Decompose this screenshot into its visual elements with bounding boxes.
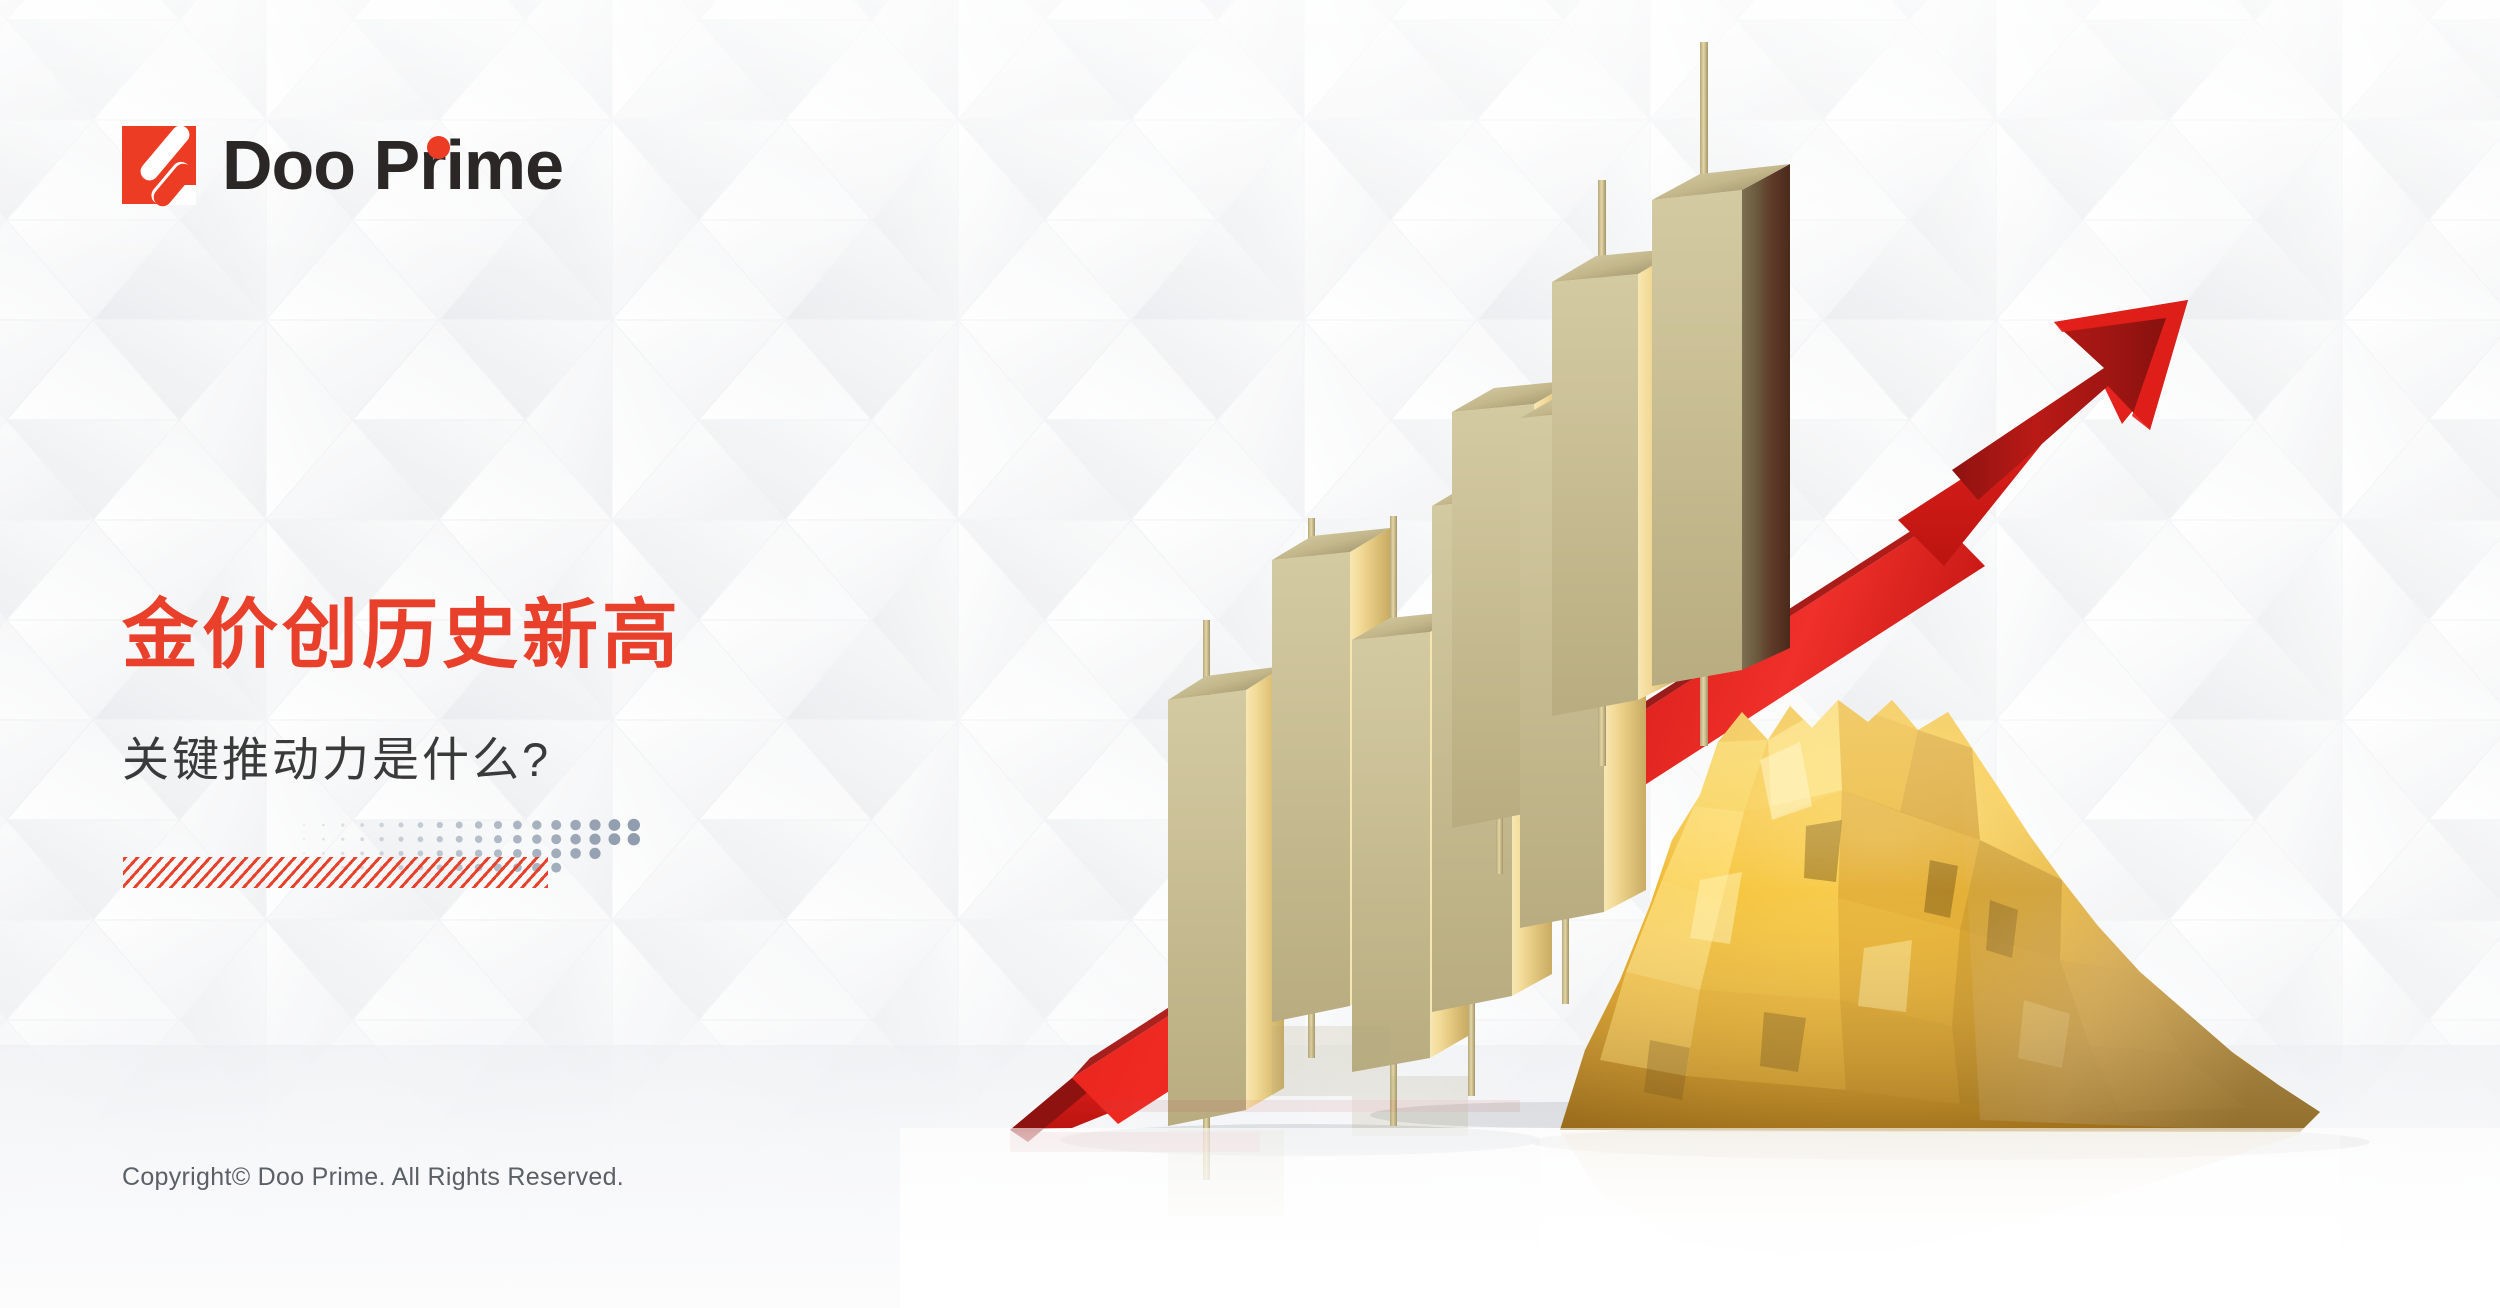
doo-prime-logo-icon: [122, 126, 196, 204]
brand-logo[interactable]: Doo Prime: [122, 126, 563, 204]
copyright-text: Copyright© Doo Prime. All Rights Reserve…: [122, 1163, 624, 1192]
page-subtitle: 关键推动力是什么?: [122, 736, 551, 783]
promo-banner: Doo Prime 金价创历史新高 关键推动力是什么? Copyright© D…: [0, 0, 2500, 1308]
brand-name: Doo Prime: [222, 130, 563, 200]
red-stripe-bar: [123, 857, 548, 888]
page-title: 金价创历史新高: [122, 598, 682, 674]
decorative-divider: [118, 816, 658, 896]
